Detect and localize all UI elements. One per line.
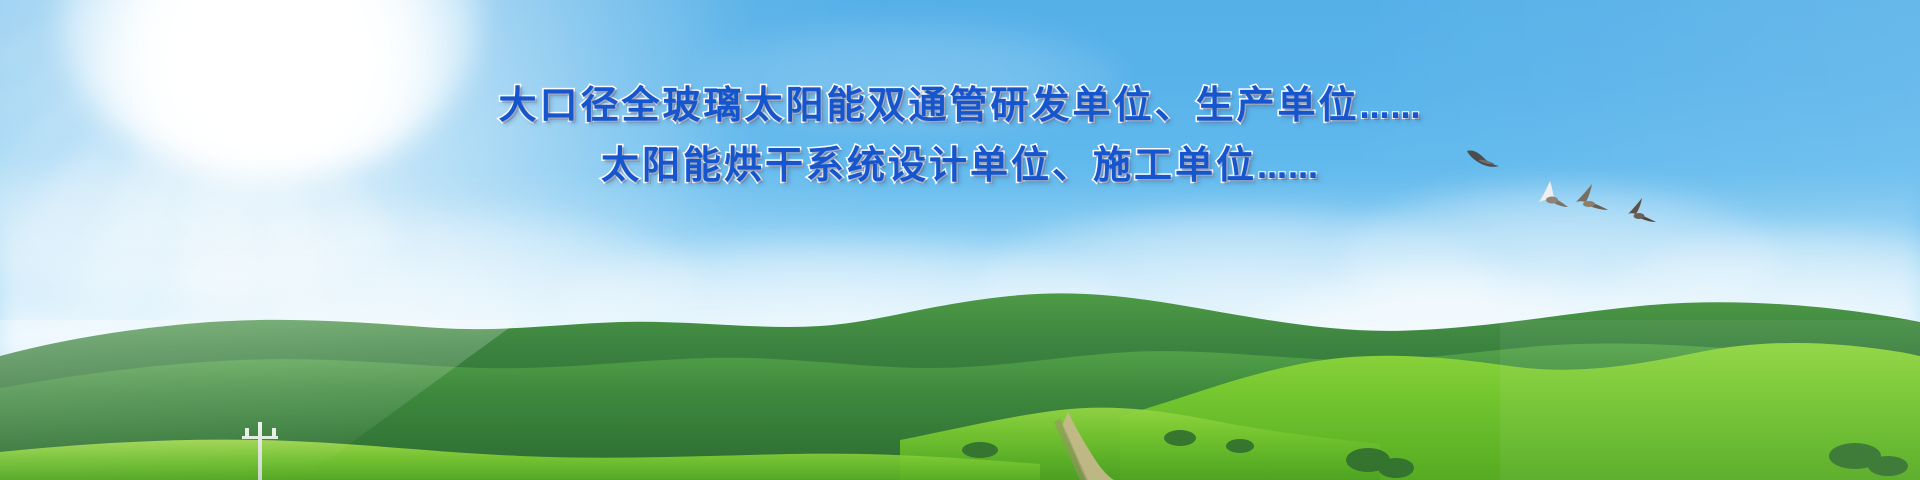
utility-pole-insulator-left xyxy=(245,428,249,436)
hero-banner: 大口径全玻璃太阳能双通管研发单位、生产单位…… 太阳能烘干系统设计单位、施工单位… xyxy=(0,0,1920,480)
utility-pole-crossarm xyxy=(242,436,278,439)
hills-illustration xyxy=(0,260,1920,480)
landscape xyxy=(0,260,1920,480)
cloud xyxy=(700,20,1120,130)
hill-right-glow xyxy=(1500,320,1920,480)
utility-pole-insulator-right xyxy=(272,428,276,436)
utility-pole xyxy=(258,422,262,480)
